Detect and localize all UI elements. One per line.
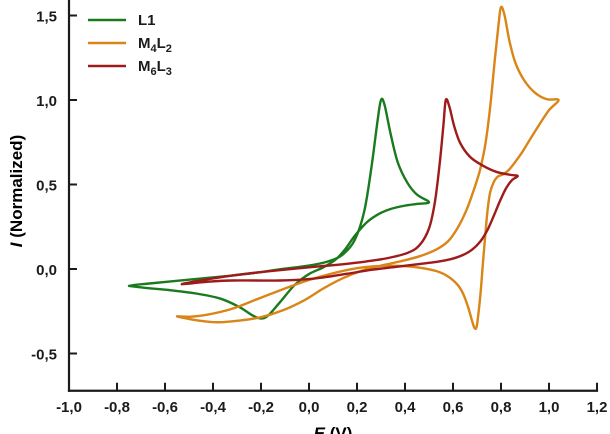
legend-label-m6l3: M6L3 bbox=[138, 58, 172, 78]
cv-plot-svg: -1,0-0,8-0,6-0,4-0,20,00,20,40,60,81,01,… bbox=[0, 0, 610, 434]
x-tick-label: 0,8 bbox=[491, 399, 512, 416]
legend-label-l1: L1 bbox=[138, 12, 156, 29]
y-tick-label: 1,5 bbox=[36, 9, 57, 26]
x-tick-labels: -1,0-0,8-0,6-0,4-0,20,00,20,40,60,81,01,… bbox=[56, 399, 607, 416]
x-axis-title: E (V) bbox=[314, 424, 353, 434]
x-tick-label: 0,6 bbox=[443, 399, 464, 416]
cv-chart: -1,0-0,8-0,6-0,4-0,20,00,20,40,60,81,01,… bbox=[0, 0, 610, 434]
x-tick-label: 1,2 bbox=[587, 399, 608, 416]
legend: L1M4L2M6L3 bbox=[88, 12, 172, 78]
legend-label-m4l2: M4L2 bbox=[138, 35, 172, 55]
y-tick-label: -0,5 bbox=[31, 347, 57, 364]
series-curve-m6l3 bbox=[182, 99, 518, 284]
y-tick-label: 1,0 bbox=[36, 93, 57, 110]
y-tick-label: 0,5 bbox=[36, 178, 57, 195]
x-tick-label: -1,0 bbox=[56, 399, 82, 416]
y-axis-title: I (Normalized) bbox=[7, 135, 26, 247]
x-tick-label: -0,8 bbox=[104, 399, 130, 416]
x-tick-label: -0,2 bbox=[248, 399, 274, 416]
x-tick-label: 0,4 bbox=[395, 399, 417, 416]
x-tick-label: -0,6 bbox=[152, 399, 178, 416]
y-tick-label: 0,0 bbox=[36, 262, 57, 279]
x-tick-label: -0,4 bbox=[200, 399, 227, 416]
x-tick-label: 1,0 bbox=[539, 399, 560, 416]
x-tick-label: 0,0 bbox=[299, 399, 320, 416]
y-tick-labels: -0,50,00,51,01,5 bbox=[31, 9, 57, 364]
axis-titles-group: E (V)I (Normalized) bbox=[7, 135, 352, 434]
series-curve-l1 bbox=[129, 99, 429, 319]
series-curves-group bbox=[129, 7, 559, 329]
x-tick-label: 0,2 bbox=[347, 399, 368, 416]
